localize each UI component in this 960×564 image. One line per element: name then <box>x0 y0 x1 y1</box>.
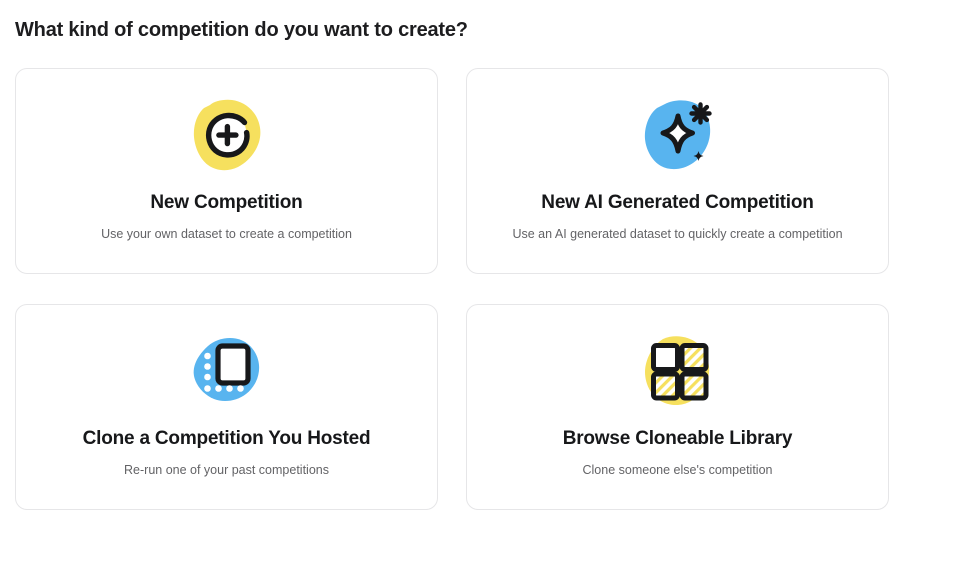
yellow-hexagon-plus-circle-icon <box>181 95 273 177</box>
card-subtitle: Use your own dataset to create a competi… <box>87 225 366 243</box>
card-new-ai-generated-competition[interactable]: New AI Generated Competition Use an AI g… <box>466 68 889 274</box>
blue-blob-sparkle-star-icon <box>632 95 724 177</box>
card-new-competition[interactable]: New Competition Use your own dataset to … <box>15 68 438 274</box>
competition-type-card-grid: New Competition Use your own dataset to … <box>15 68 889 510</box>
card-title: New AI Generated Competition <box>541 191 813 215</box>
card-clone-competition-you-hosted[interactable]: Clone a Competition You Hosted Re-run on… <box>15 304 438 510</box>
card-browse-cloneable-library[interactable]: Browse Cloneable Library Clone someone e… <box>466 304 889 510</box>
card-subtitle: Re-run one of your past competitions <box>110 461 343 479</box>
card-subtitle: Use an AI generated dataset to quickly c… <box>498 225 856 243</box>
create-competition-page: What kind of competition do you want to … <box>0 0 960 564</box>
card-title: Browse Cloneable Library <box>563 427 793 451</box>
page-title: What kind of competition do you want to … <box>15 16 468 44</box>
card-title: Clone a Competition You Hosted <box>83 427 371 451</box>
blue-blob-clone-card-icon <box>181 331 273 413</box>
yellow-blob-grid-library-icon <box>632 331 724 413</box>
card-title: New Competition <box>150 191 302 215</box>
card-subtitle: Clone someone else's competition <box>569 461 787 479</box>
